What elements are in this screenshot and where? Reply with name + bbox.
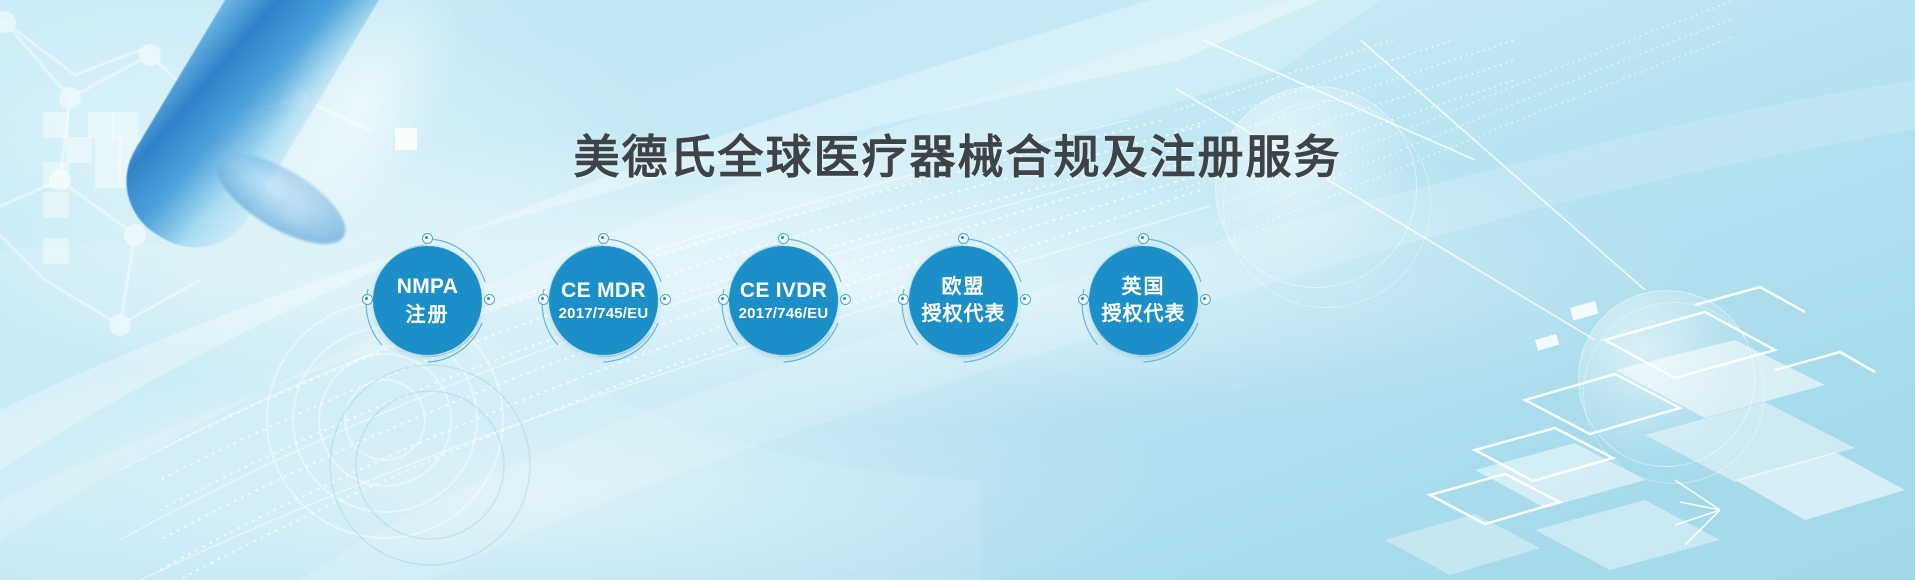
- banner-hero: 美德氏全球医疗器械合规及注册服务 NMPA 注册: [0, 0, 1915, 580]
- badge-node-dot: [1200, 294, 1211, 305]
- badge-line-2: 2017/746/EU: [739, 305, 829, 323]
- badge-node-dot: [778, 233, 789, 244]
- badge-line-2: 注册: [406, 303, 450, 327]
- service-badge-uk-rep[interactable]: 英国 授权代表: [1080, 237, 1207, 364]
- badge-node-dot: [660, 294, 671, 305]
- badge-line-1: NMPA: [397, 274, 458, 300]
- badge-node-dot: [484, 294, 495, 305]
- badge-line-1: 欧盟: [942, 275, 986, 299]
- service-badge-nmpa[interactable]: NMPA 注册: [364, 237, 491, 364]
- badge-node-dot: [898, 294, 909, 305]
- badge-line-2: 授权代表: [1102, 302, 1186, 326]
- badge-node-dot: [1078, 294, 1089, 305]
- badge-node-dot: [598, 233, 609, 244]
- badge-node-dot: [538, 294, 549, 305]
- badge-line-1: CE IVDR: [740, 278, 827, 304]
- sphere-upper-right: [1215, 86, 1417, 288]
- page-title: 美德氏全球医疗器械合规及注册服务: [0, 121, 1915, 187]
- badge-line-1: 英国: [1122, 275, 1166, 299]
- badge-node-dot: [718, 294, 729, 305]
- badge-node-dot: [1020, 294, 1031, 305]
- badge-disc: NMPA 注册: [373, 246, 482, 355]
- badge-node-dot: [422, 233, 433, 244]
- badge-node-dot: [1138, 233, 1149, 244]
- badge-node-dot: [958, 233, 969, 244]
- badge-disc: 欧盟 授权代表: [909, 246, 1018, 355]
- sphere-lower-right: [1578, 290, 1755, 467]
- badge-disc: CE IVDR 2017/746/EU: [729, 246, 838, 355]
- badge-disc: 英国 授权代表: [1089, 246, 1198, 355]
- badge-line-2: 授权代表: [922, 302, 1006, 326]
- badge-line-1: CE MDR: [561, 278, 646, 304]
- badge-node-dot: [840, 294, 851, 305]
- service-badge-row: NMPA 注册 CE MDR 2017/745/E: [364, 237, 1208, 367]
- badge-disc: CE MDR 2017/745/EU: [549, 246, 658, 355]
- badge-node-dot: [362, 294, 373, 305]
- badge-line-2: 2017/745/EU: [559, 305, 649, 323]
- sphere-ring-lower-right: [1583, 302, 1765, 484]
- service-badge-ce-mdr[interactable]: CE MDR 2017/745/EU: [540, 237, 667, 364]
- service-badge-ce-ivdr[interactable]: CE IVDR 2017/746/EU: [720, 237, 847, 364]
- service-badge-eu-rep[interactable]: 欧盟 授权代表: [900, 237, 1027, 364]
